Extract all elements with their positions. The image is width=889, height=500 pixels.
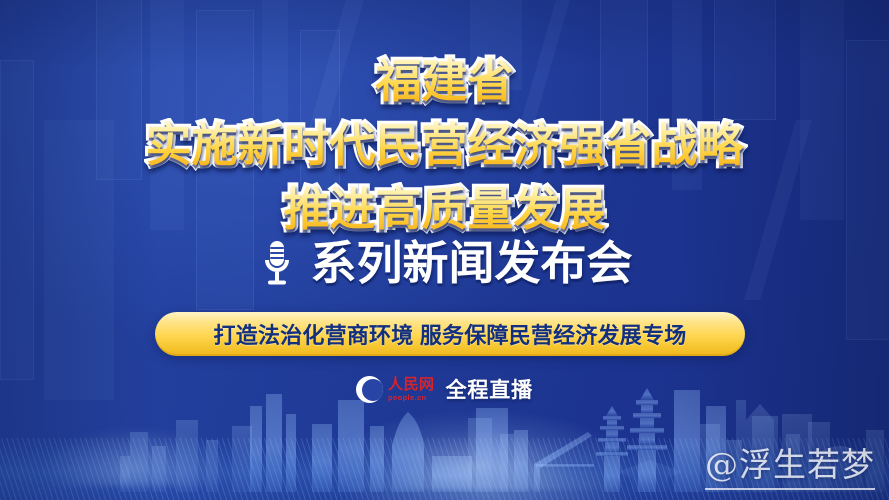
- people-cn-mark-icon: [356, 376, 383, 403]
- people-cn-name-en: people.cn: [388, 394, 435, 402]
- title-line4: 系列新闻发布会: [311, 234, 633, 292]
- title-line3: 推进高质量发展: [0, 180, 889, 238]
- press-conference-poster: 福建省 福建省 实施新时代民营经济强省战略 实施新时代民营经济强省战略 推进高质…: [0, 0, 889, 500]
- title-line1: 福建省: [0, 52, 889, 110]
- microphone-icon: [257, 239, 297, 287]
- subtitle-pill[interactable]: 打造法治化营商环境 服务保障民营经济发展专场: [155, 312, 745, 356]
- people-cn-name-cn: 人民网: [388, 377, 435, 392]
- title-line2: 实施新时代民营经济强省战略: [0, 116, 889, 174]
- series-title-row: 系列新闻发布会: [0, 234, 889, 292]
- headline-block: 福建省 福建省 实施新时代民营经济强省战略 实施新时代民营经济强省战略 推进高质…: [0, 0, 889, 238]
- live-label: 全程直播: [446, 374, 533, 404]
- left-glow: [40, 426, 230, 486]
- broadcaster-row: 人民网 people.cn 全程直播: [0, 372, 889, 406]
- center-glow: [330, 410, 630, 490]
- people-cn-logo-icon: 人民网 people.cn: [356, 376, 435, 403]
- watermark: @浮生若梦: [705, 438, 875, 490]
- subtitle-pill-label: 打造法治化营商环境 服务保障民营经济发展专场: [214, 318, 687, 350]
